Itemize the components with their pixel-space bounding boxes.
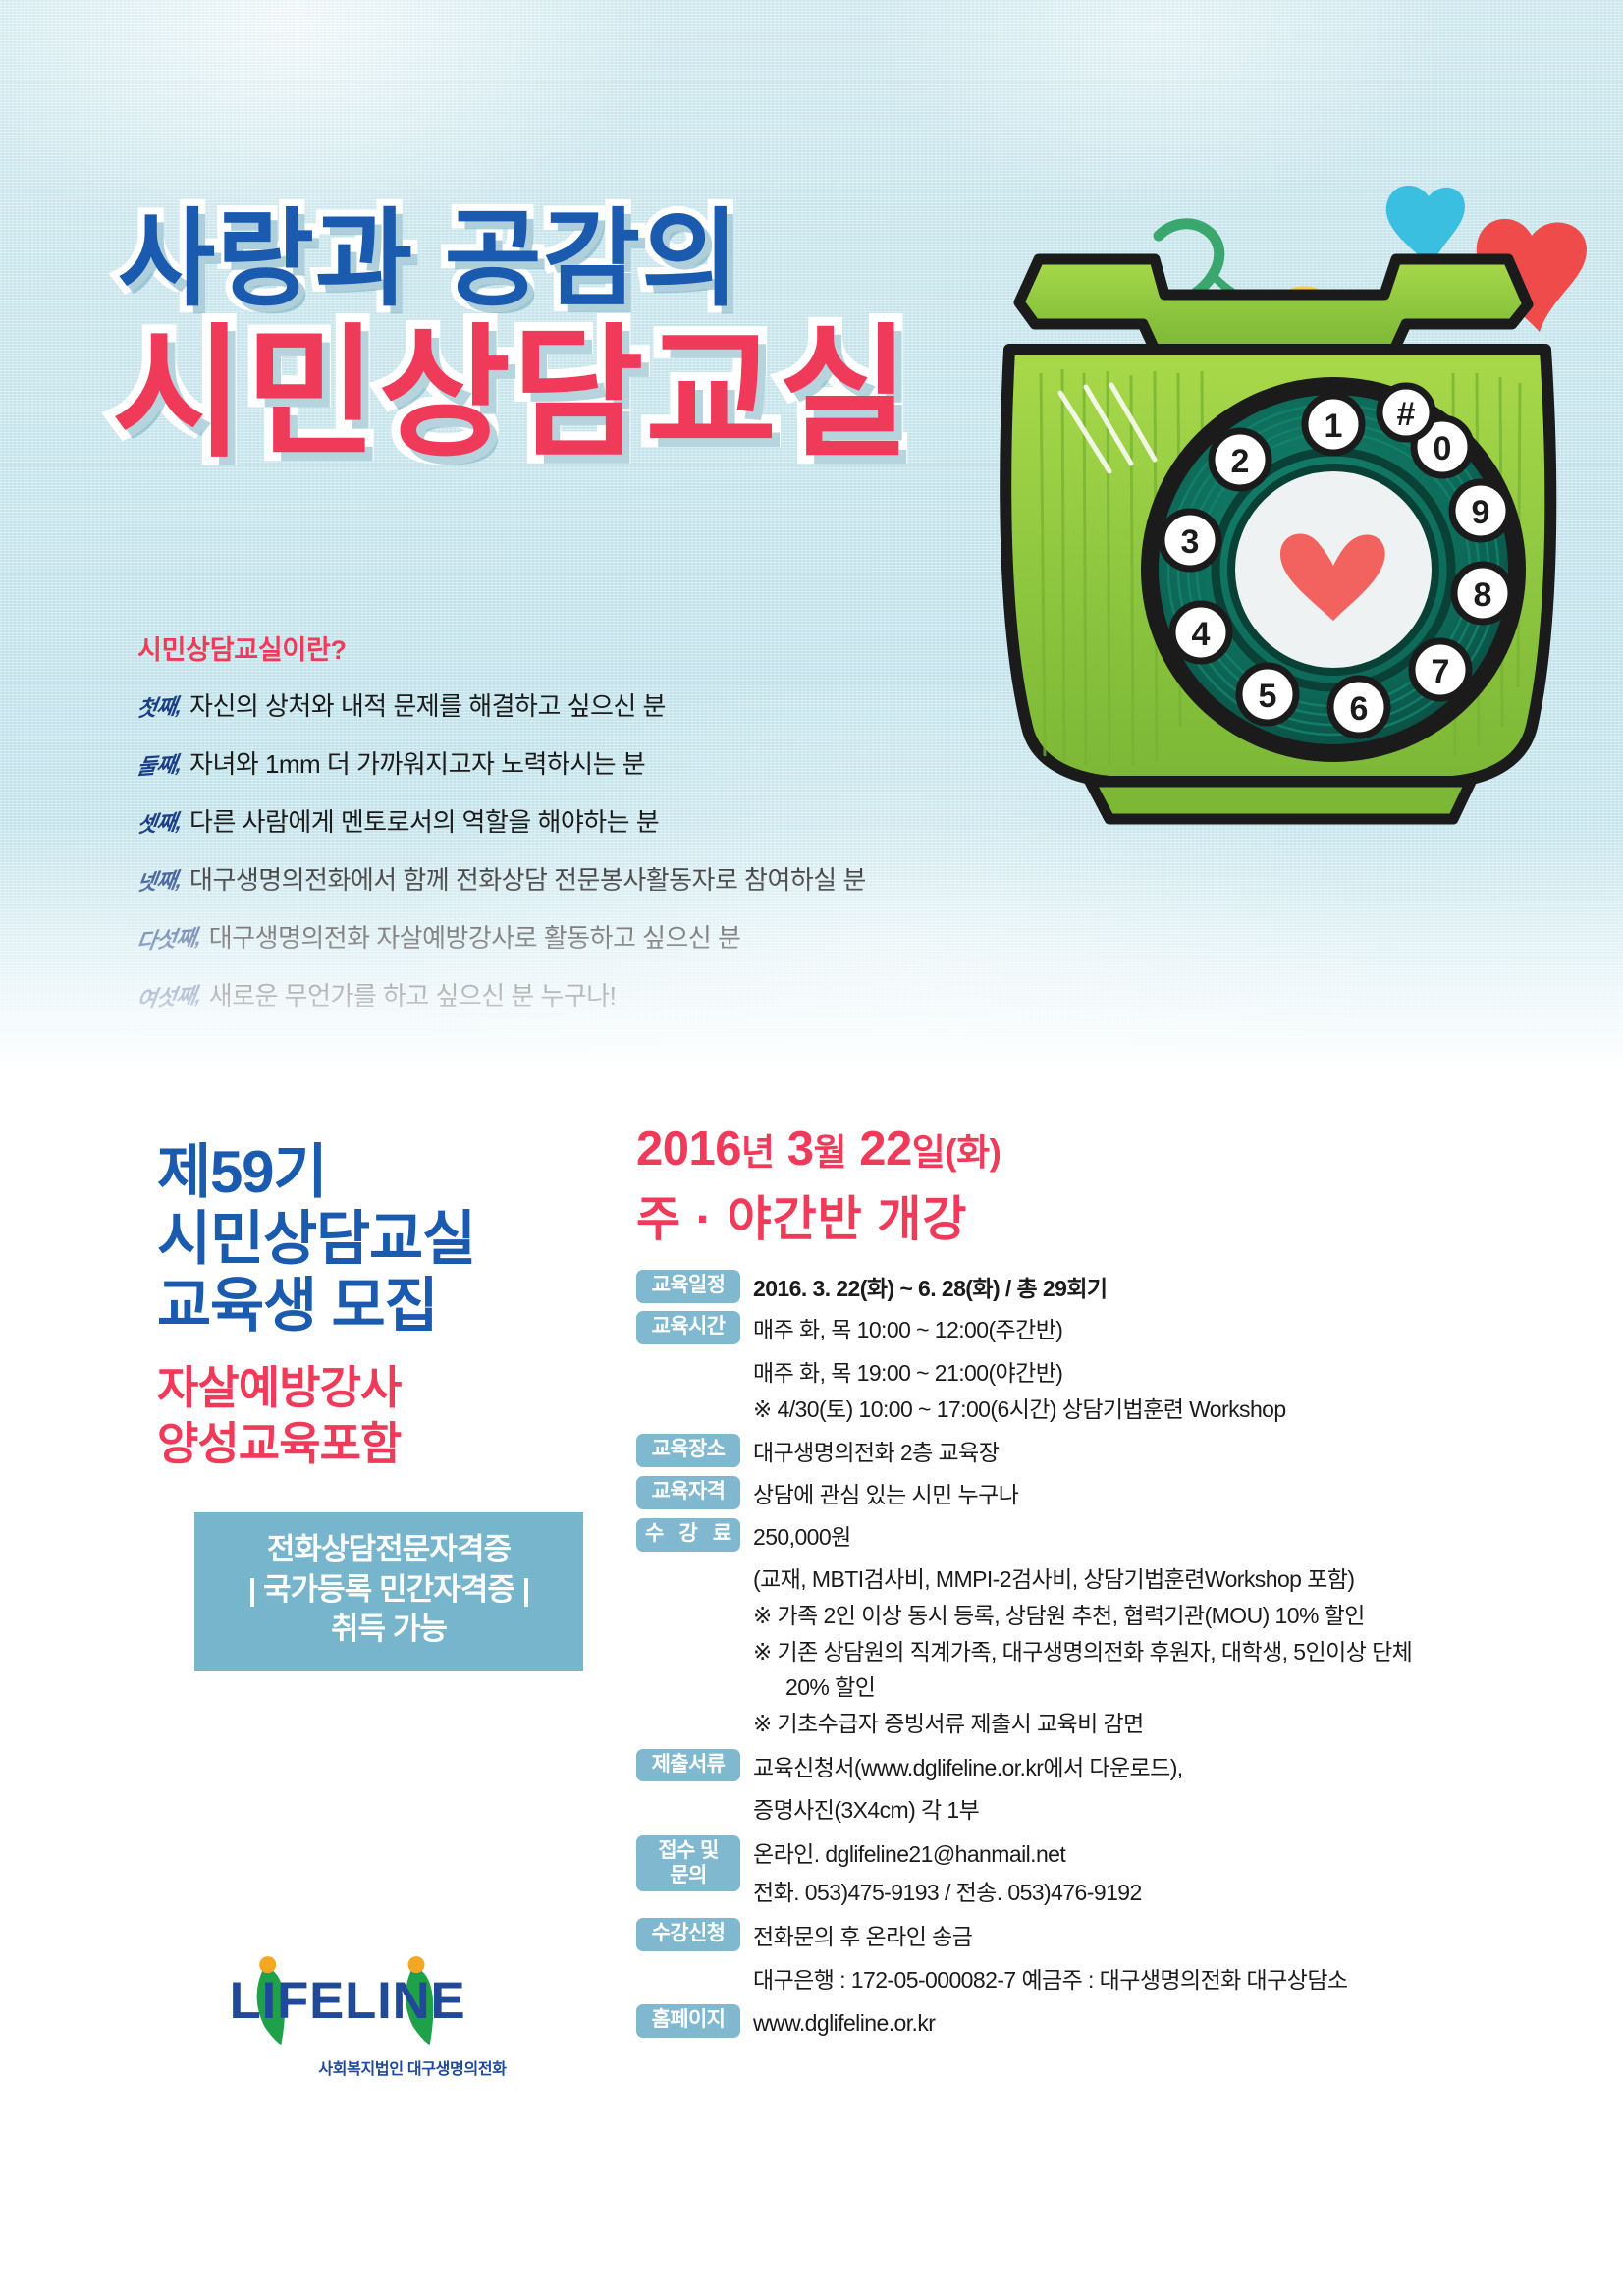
logo-dot-icon <box>408 1956 425 1973</box>
info-row-value[interactable]: www.dglifeline.or.kr <box>753 2004 935 2040</box>
intro-item: 둘째, 자녀와 1mm 더 가까워지고자 노력하시는 분 <box>137 744 952 781</box>
info-row-extra: ※ 4/30(토) 10:00 ~ 17:00(6시간) 상담기법훈련 Work… <box>753 1390 1500 1426</box>
logo-dot-icon <box>259 1956 276 1973</box>
info-row-extra: (교재, MBTI검사비, MMPI-2검사비, 상담기법훈련Workshop … <box>753 1559 1500 1596</box>
info-row-value: 교육신청서(www.dglifeline.or.kr에서 다운로드), <box>753 1749 1183 1784</box>
info-row-value: 상담에 관심 있는 시민 누구나 <box>753 1476 1018 1511</box>
lifeline-logo-caption: 사회복지법인 대구생명의전화 <box>216 2055 609 2079</box>
info-row-value: 매주 화, 목 10:00 ~ 12:00(주간반) <box>753 1311 1062 1346</box>
certificate-badge: 전화상담전문자격증 | 국가등록 민간자격증 | 취득 가능 <box>194 1512 583 1672</box>
info-row-extra: 증명사진(3X4cm) 각 1부 <box>753 1790 1500 1827</box>
open-date-day: 22 <box>859 1122 912 1175</box>
info-row-extra: ※ 기초수급자 증빙서류 제출시 교육비 감면 <box>753 1704 1500 1740</box>
info-row-value: 대구생명의전화 2층 교육장 <box>753 1434 999 1469</box>
poster-root: 1 2 3 4 5 6 7 8 9 0 # 사랑과 공감의 시민상담교실 시민상… <box>0 0 1623 2296</box>
certificate-badge-line-3: 취득 가능 <box>204 1610 573 1650</box>
course-title-line-1: 제59기 <box>157 1139 619 1206</box>
info-row-extra: ※ 가족 2인 이상 동시 등록, 상담원 추천, 협력기관(MOU) 10% … <box>753 1596 1500 1632</box>
svg-text:6: 6 <box>1350 690 1369 728</box>
info-row-label: 교육자격 <box>636 1476 740 1509</box>
hero-line-2: 시민상담교실 <box>112 322 912 465</box>
info-row-website: 홈페이지 www.dglifeline.or.kr <box>636 2004 1500 2040</box>
course-subtitle-line-2: 양성교육포함 <box>157 1416 619 1471</box>
info-row-label: 제출서류 <box>636 1749 740 1782</box>
info-row-extra: 대구은행 : 172-05-000082-7 예금주 : 대구생명의전화 대구상… <box>753 1960 1500 1996</box>
course-subtitle: 자살예방강사 양성교육포함 <box>157 1360 619 1470</box>
info-row-value: 2016. 3. 22(화) ~ 6. 28(화) / 총 29회기 <box>753 1270 1108 1305</box>
intro-item: 첫째, 자신의 상처와 내적 문제를 해결하고 싶으신 분 <box>137 686 952 723</box>
info-row-value: 전화문의 후 온라인 송금 <box>753 1918 972 1953</box>
svg-text:2: 2 <box>1231 443 1250 480</box>
open-date-headline: 2016년 3월 22일(화) <box>636 1121 1500 1178</box>
info-row-label: 수 강 료 <box>636 1518 740 1552</box>
right-column: 2016년 3월 22일(화) 주 · 야간반 개강 교육일정 2016. 3.… <box>636 1121 1500 2047</box>
svg-text:4: 4 <box>1192 616 1211 653</box>
hero-line-1: 사랑과 공감의 <box>118 206 912 312</box>
info-row-label: 접수 및문의 <box>636 1835 740 1891</box>
bottom-fade <box>0 825 1623 1061</box>
lifeline-logo: LIFELINE 사회복지법인 대구생명의전화 <box>216 1954 609 2079</box>
info-row-label: 교육시간 <box>636 1311 740 1344</box>
rotary-telephone-illustration: 1 2 3 4 5 6 7 8 9 0 # <box>962 177 1591 884</box>
svg-text:LIFELINE: LIFELINE <box>230 1972 466 2030</box>
course-title: 제59기 시민상담교실 교육생 모집 <box>157 1139 619 1339</box>
poster-top-background: 1 2 3 4 5 6 7 8 9 0 # 사랑과 공감의 시민상담교실 시민상… <box>0 0 1623 1061</box>
svg-text:8: 8 <box>1474 576 1492 614</box>
hero-headline: 사랑과 공감의 시민상담교실 <box>118 206 912 465</box>
info-row-fee: 수 강 료 250,000원 <box>636 1518 1500 1554</box>
svg-text:1: 1 <box>1325 408 1343 445</box>
info-row-extra: 20% 할인 <box>785 1667 1500 1704</box>
info-row-extra: 전화. 053)475-9193 / 전송. 053)476-9192 <box>753 1873 1500 1909</box>
info-row-value: 250,000원 <box>753 1518 851 1554</box>
info-row-place: 교육장소 대구생명의전화 2층 교육장 <box>636 1434 1500 1469</box>
info-row-application: 수강신청 전화문의 후 온라인 송금 <box>636 1918 1500 1953</box>
info-row-extra: ※ 기존 상담원의 직계가족, 대구생명의전화 후원자, 대학생, 5인이상 단… <box>753 1632 1500 1668</box>
svg-text:5: 5 <box>1259 678 1277 715</box>
svg-text:#: # <box>1397 396 1416 433</box>
course-subtitle-line-1: 자살예방강사 <box>157 1360 619 1415</box>
info-row-eligibility: 교육자격 상담에 관심 있는 시민 누구나 <box>636 1476 1500 1511</box>
info-row-label: 교육장소 <box>636 1434 740 1467</box>
intro-item-ordinal: 첫째, <box>135 688 184 723</box>
svg-text:0: 0 <box>1434 430 1452 467</box>
open-date-year-unit: 년 <box>741 1132 775 1173</box>
open-date-day-unit: 일(화) <box>912 1132 1001 1173</box>
svg-text:7: 7 <box>1432 653 1450 690</box>
intro-item-text: 자신의 상처와 내적 문제를 해결하고 싶으신 분 <box>189 686 666 723</box>
open-date-year: 2016 <box>636 1122 741 1175</box>
info-rows: 교육일정 2016. 3. 22(화) ~ 6. 28(화) / 총 29회기 … <box>636 1270 1500 2040</box>
info-row-label: 홈페이지 <box>636 2004 740 2038</box>
certificate-badge-line-1: 전화상담전문자격증 <box>204 1530 573 1570</box>
info-row-extra: 매주 화, 목 19:00 ~ 21:00(야간반) <box>753 1353 1500 1390</box>
svg-text:3: 3 <box>1181 523 1200 561</box>
info-row-time: 교육시간 매주 화, 목 10:00 ~ 12:00(주간반) <box>636 1311 1500 1346</box>
svg-text:9: 9 <box>1472 494 1490 531</box>
open-date-month: 3 <box>787 1122 814 1175</box>
info-row-schedule: 교육일정 2016. 3. 22(화) ~ 6. 28(화) / 총 29회기 <box>636 1270 1500 1305</box>
open-date-month-unit: 월 <box>814 1132 847 1173</box>
course-title-line-2: 시민상담교실 <box>157 1206 619 1273</box>
info-row-documents: 제출서류 교육신청서(www.dglifeline.or.kr에서 다운로드), <box>636 1749 1500 1784</box>
certificate-badge-line-2: | 국가등록 민간자격증 | <box>204 1570 573 1611</box>
intro-item-ordinal: 둘째, <box>135 746 184 781</box>
lifeline-logo-mark: LIFELINE <box>216 1954 550 2049</box>
info-row-value: 온라인. dglifeline21@hanmail.net <box>753 1835 1065 1871</box>
intro-question: 시민상담교실이란? <box>137 629 952 667</box>
left-column: 제59기 시민상담교실 교육생 모집 자살예방강사 양성교육포함 전화상담전문자… <box>157 1139 619 1671</box>
details-panel: 제59기 시민상담교실 교육생 모집 자살예방강사 양성교육포함 전화상담전문자… <box>98 1061 1532 2219</box>
info-row-label: 수강신청 <box>636 1918 740 1951</box>
course-title-line-3: 교육생 모집 <box>157 1273 619 1339</box>
open-class-headline: 주 · 야간반 개강 <box>636 1180 1500 1250</box>
intro-item-text: 자녀와 1mm 더 가까워지고자 노력하시는 분 <box>189 744 645 781</box>
info-row-label: 교육일정 <box>636 1270 740 1303</box>
